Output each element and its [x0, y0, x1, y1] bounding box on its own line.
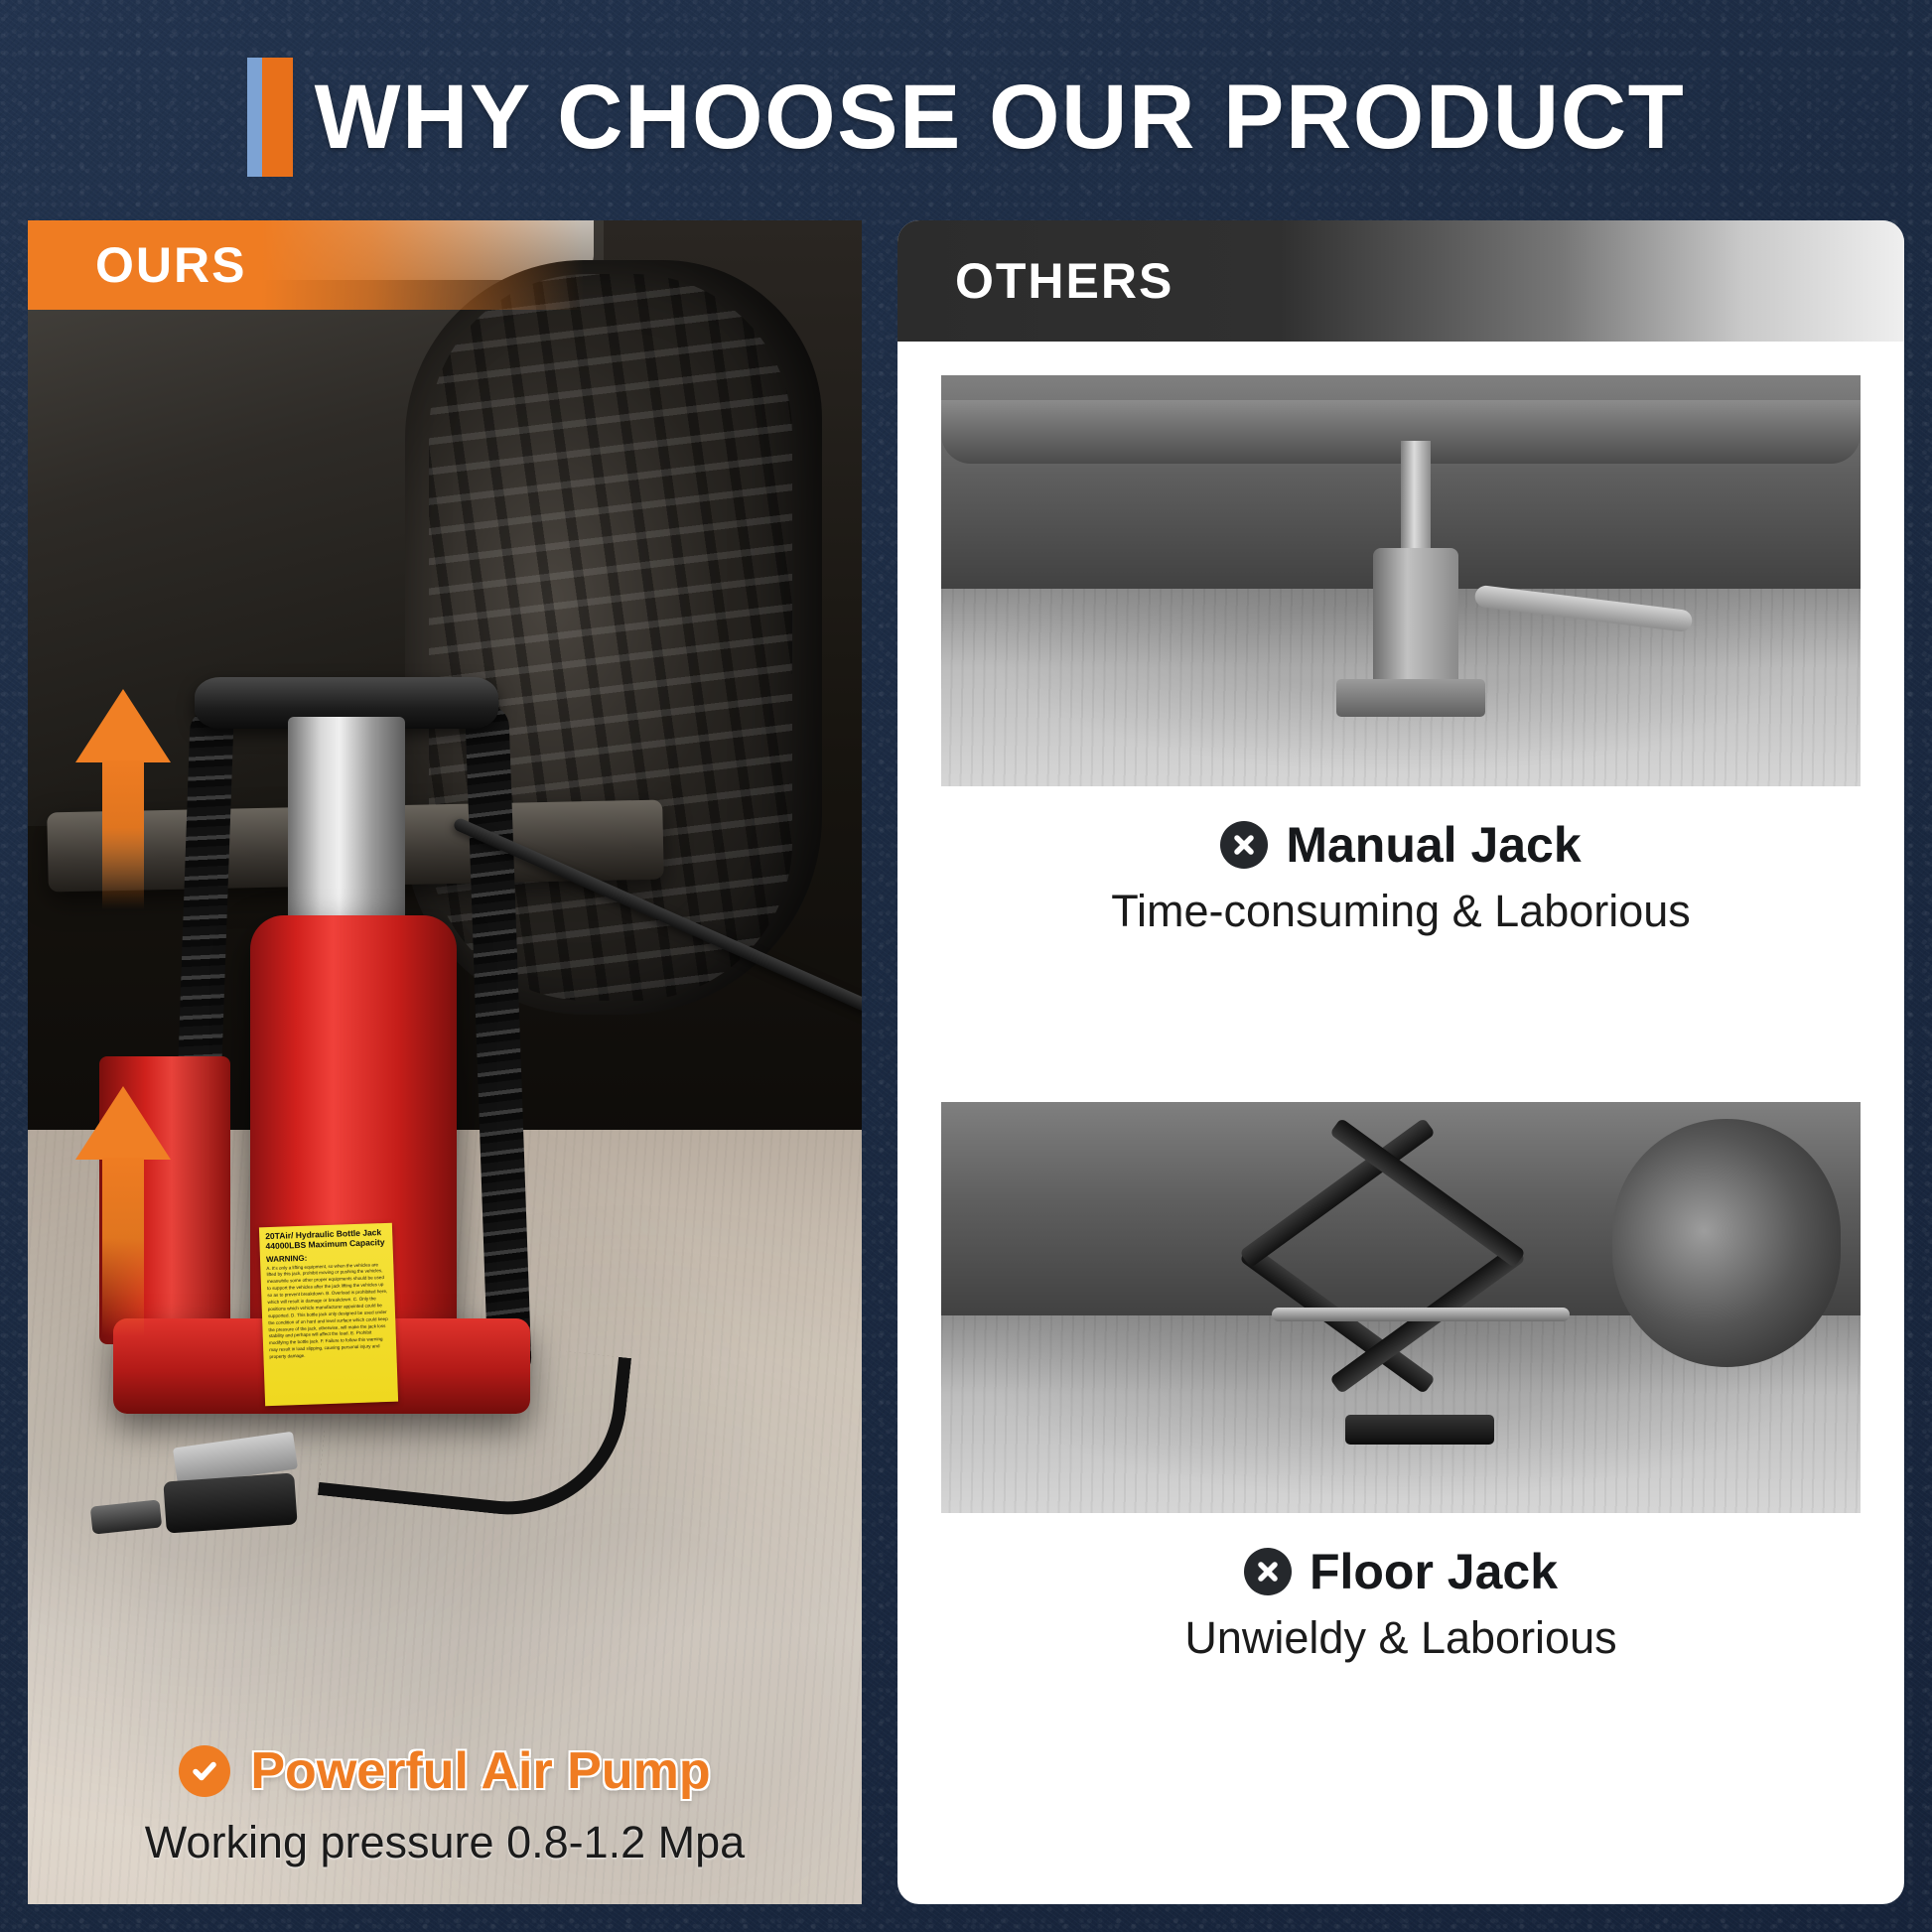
manual-jack-title: Manual Jack — [1286, 816, 1581, 874]
other-item-floor-jack: Floor Jack Unwieldy & Laborious — [941, 1102, 1861, 1664]
ours-caption-subtitle: Working pressure 0.8-1.2 Mpa — [28, 1817, 862, 1868]
arrow-stem — [102, 1158, 144, 1336]
others-panel: OTHERS — [897, 220, 1904, 1904]
manual-jack-heading: Manual Jack — [941, 816, 1861, 874]
ours-product-photo: 20TAir/ Hydraulic Bottle Jack 44000LBS M… — [28, 220, 862, 1904]
photo-car-tire — [405, 260, 822, 1015]
ours-panel: 20TAir/ Hydraulic Bottle Jack 44000LBS M… — [28, 220, 862, 1904]
air-coupler — [163, 1472, 297, 1533]
scissor-screw — [1272, 1308, 1570, 1321]
floor-jack-heading: Floor Jack — [941, 1543, 1861, 1600]
arrow-head — [75, 1086, 171, 1160]
title-accent-bars — [247, 58, 293, 177]
x-circle-icon — [1220, 821, 1268, 869]
ours-caption: Powerful Air Pump Working pressure 0.8-1… — [28, 1741, 862, 1868]
arrow-head — [75, 689, 171, 762]
floor-jack-label: Floor Jack Unwieldy & Laborious — [941, 1543, 1861, 1664]
manual-jack-photo — [941, 375, 1861, 786]
ours-caption-title: Powerful Air Pump — [250, 1741, 710, 1801]
manual-jack-body — [1373, 548, 1458, 697]
floor-jack-photo — [941, 1102, 1861, 1513]
jack-ram — [288, 717, 405, 945]
others-banner-label: OTHERS — [955, 252, 1173, 310]
accent-bar-blue — [247, 58, 262, 177]
x-circle-icon — [1244, 1548, 1292, 1595]
arrow-stem — [102, 760, 144, 909]
other-item-manual-jack: Manual Jack Time-consuming & Laborious — [941, 375, 1861, 937]
manual-jack-subtitle: Time-consuming & Laborious — [941, 886, 1861, 937]
ours-banner: OURS — [28, 220, 584, 310]
comparison-panels: 20TAir/ Hydraulic Bottle Jack 44000LBS M… — [28, 220, 1904, 1904]
manual-jack-label: Manual Jack Time-consuming & Laborious — [941, 816, 1861, 937]
accent-bar-orange — [262, 58, 293, 177]
label-line-2: 44000LBS Maximum Capacity — [265, 1238, 386, 1252]
ours-banner-label: OURS — [95, 236, 246, 294]
page-title: WHY CHOOSE OUR PRODUCT — [315, 71, 1686, 163]
photo-wheel — [1612, 1119, 1841, 1367]
page-header: WHY CHOOSE OUR PRODUCT — [0, 52, 1932, 183]
page-background: WHY CHOOSE OUR PRODUCT — [0, 0, 1932, 1932]
floor-jack-subtitle: Unwieldy & Laborious — [941, 1612, 1861, 1664]
check-circle-icon — [179, 1745, 230, 1797]
floor-jack-title: Floor Jack — [1310, 1543, 1558, 1600]
scissor-foot — [1345, 1415, 1494, 1445]
manual-jack-base — [1336, 679, 1485, 717]
ours-caption-heading: Powerful Air Pump — [28, 1741, 862, 1801]
others-banner: OTHERS — [897, 220, 1904, 342]
